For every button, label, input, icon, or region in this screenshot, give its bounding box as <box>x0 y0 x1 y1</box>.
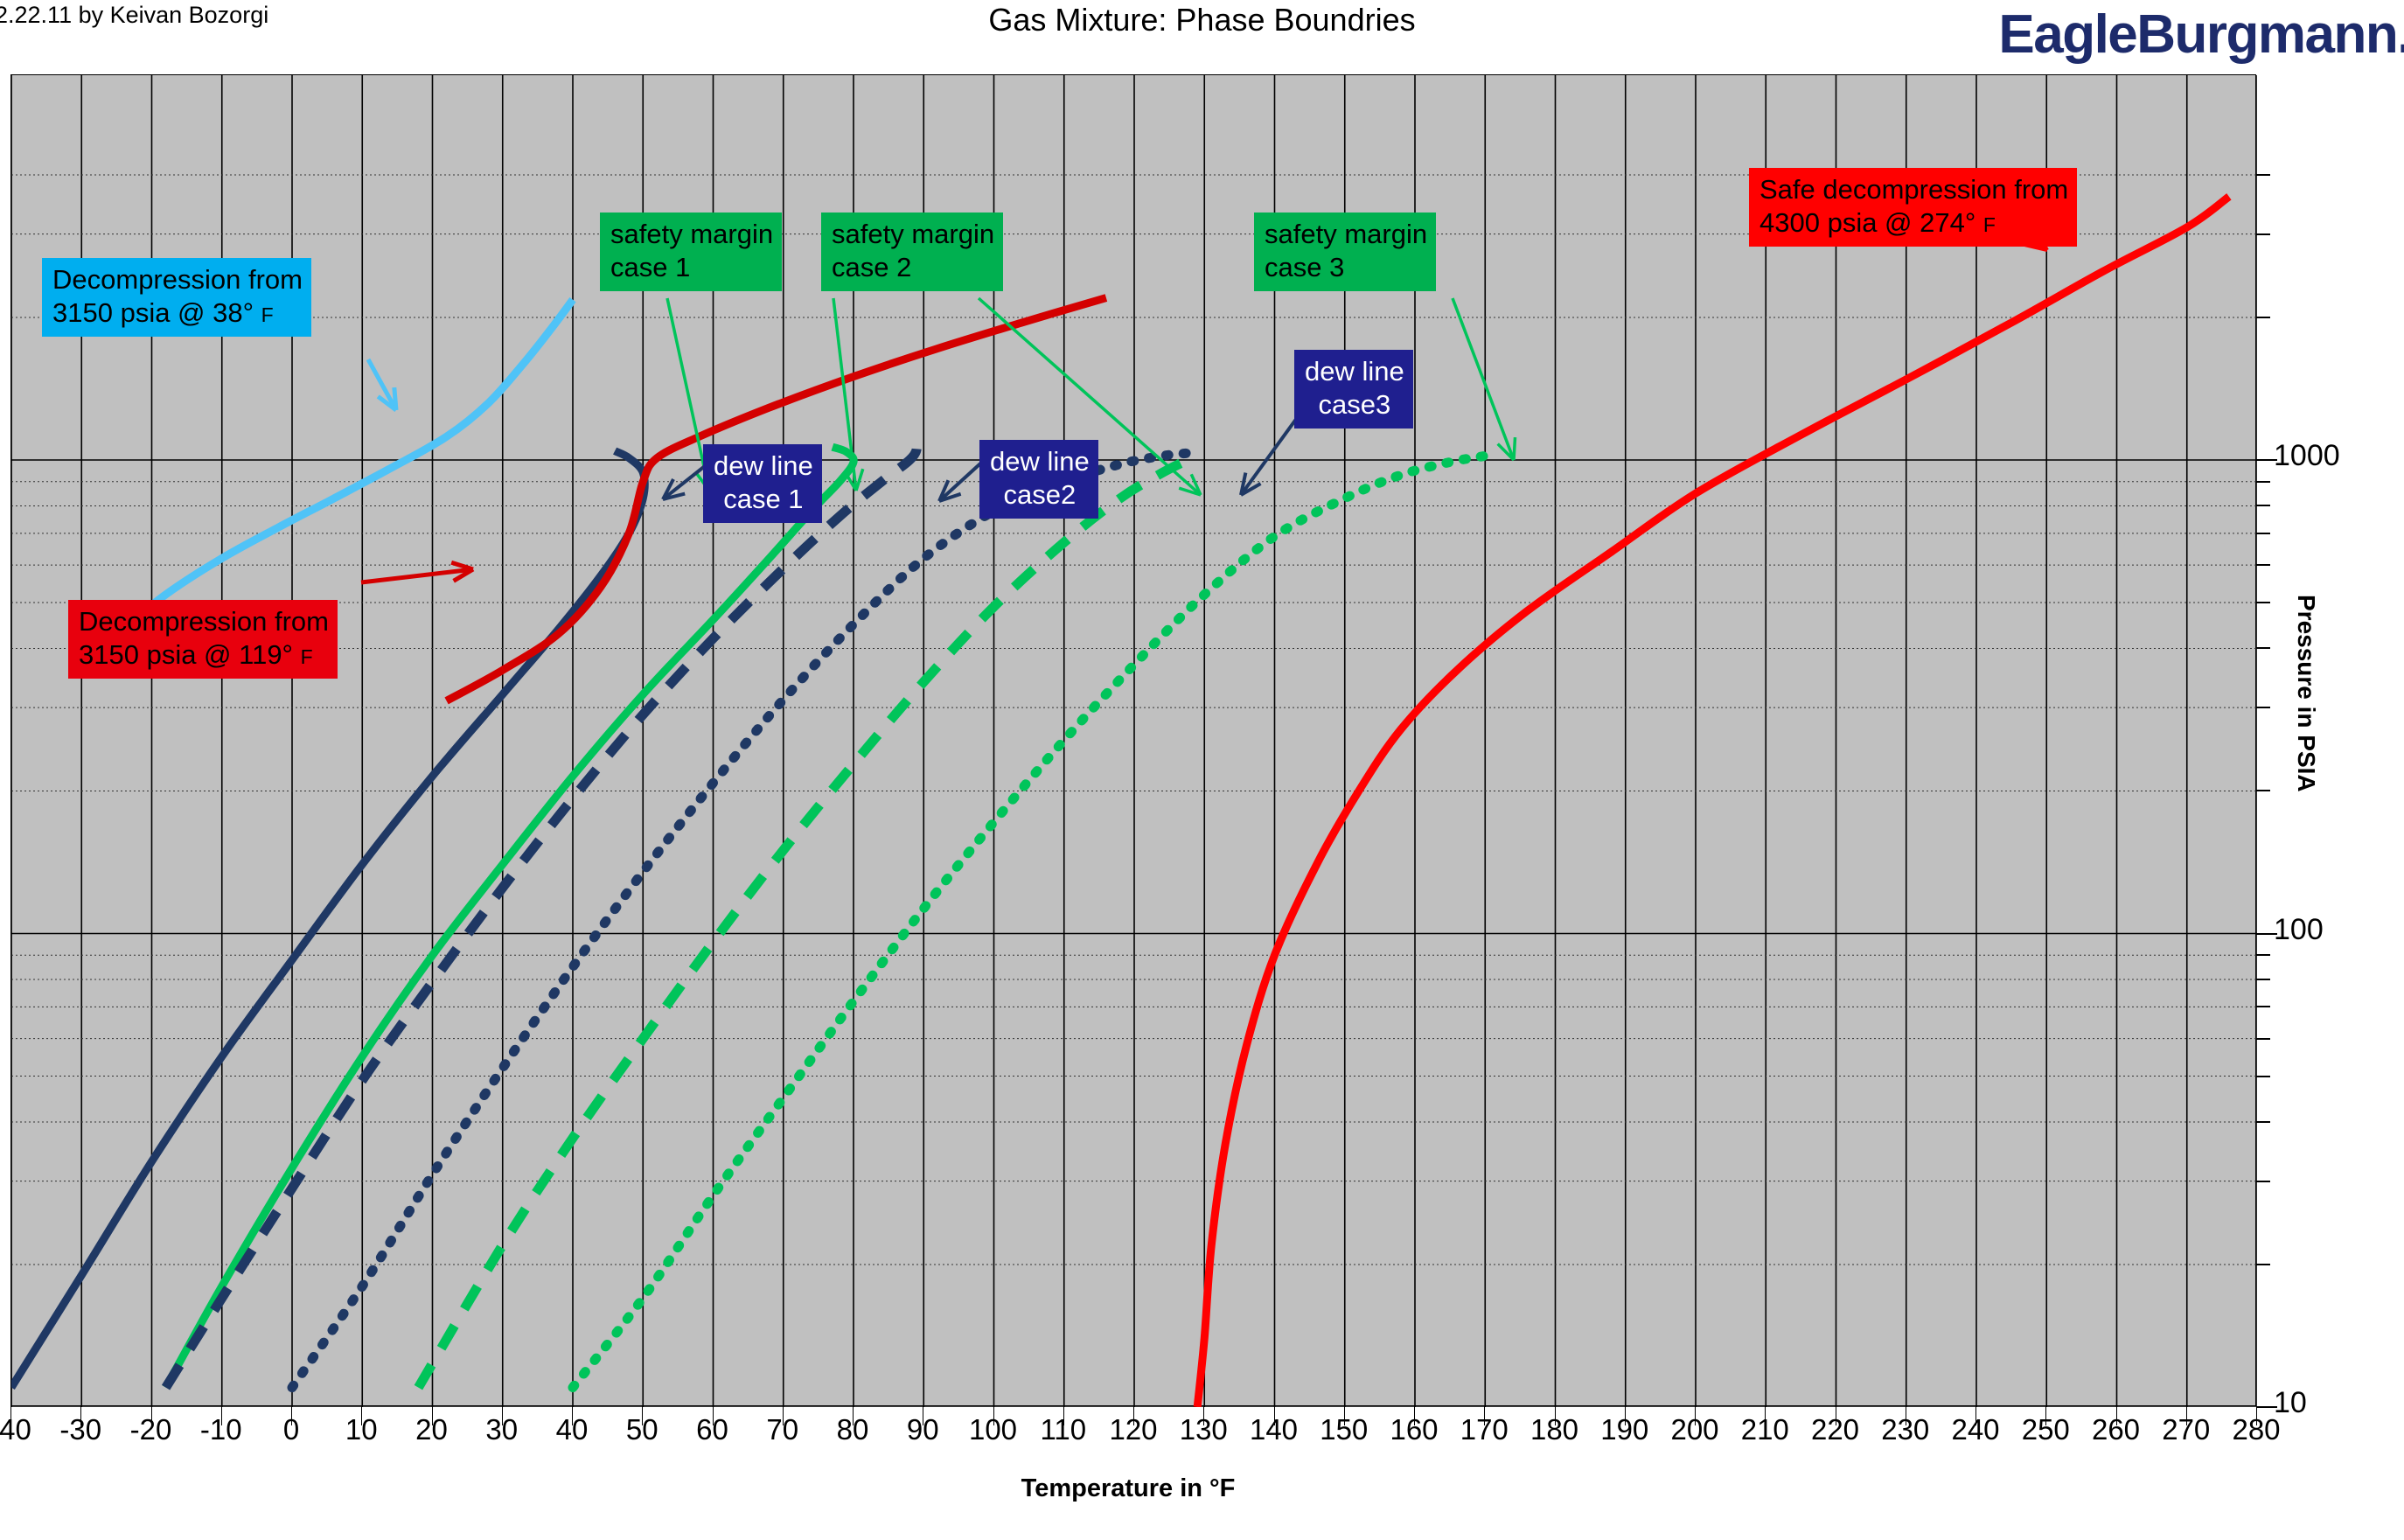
y-tick-mark <box>2256 1406 2277 1408</box>
callout-line-1: safety margin <box>610 218 773 251</box>
y-tick-mark <box>2256 602 2270 603</box>
curve-decompression-from-3150-psia-38-f <box>123 300 573 629</box>
x-tick-mark <box>1203 1406 1204 1425</box>
y-tick-mark <box>2256 1181 2270 1182</box>
x-tick-mark <box>1414 1406 1415 1425</box>
y-tick-mark <box>2256 481 2270 483</box>
x-tick-mark <box>923 1406 923 1425</box>
curve-dew-line-case-2 <box>166 442 917 1388</box>
x-tick-mark <box>2045 1406 2046 1425</box>
x-tick-mark <box>1555 1406 1556 1425</box>
x-tick-mark <box>1063 1406 1064 1425</box>
chart-plot-area <box>10 74 2256 1406</box>
callout-line-2: case 2 <box>832 251 994 284</box>
leader-margin-3 <box>1453 298 1514 460</box>
y-tick-mark <box>2256 790 2270 791</box>
y-tick-mark <box>2256 647 2270 649</box>
x-tick-mark <box>80 1406 81 1425</box>
callout-dew-line-2: dew line case2 <box>979 440 1098 519</box>
callout-line-1: Decompression from <box>52 263 303 296</box>
x-tick-mark <box>2256 1406 2257 1425</box>
x-tick-mark <box>642 1406 643 1425</box>
y-tick-mark <box>2256 505 2270 506</box>
leader-decomp-cold <box>368 359 396 410</box>
callout-line-2: 3150 psia @ 38° F <box>52 296 303 330</box>
y-tick-mark <box>2256 174 2270 176</box>
x-tick-mark <box>432 1406 433 1425</box>
x-tick-mark <box>1274 1406 1275 1425</box>
x-tick-mark <box>2186 1406 2187 1425</box>
x-tick-mark <box>151 1406 152 1425</box>
x-tick-mark <box>572 1406 573 1425</box>
callout-safety-margin-3: safety margin case 3 <box>1254 213 1436 291</box>
callout-line-1: Decompression from <box>79 605 329 638</box>
x-tick-mark <box>853 1406 854 1425</box>
callout-line-1: Safe decompression from <box>1759 173 2068 206</box>
callout-line-2: 3150 psia @ 119° F <box>79 638 329 672</box>
callout-line-2: case3 <box>1305 388 1404 422</box>
y-tick-mark <box>2256 707 2270 708</box>
y-tick-mark <box>2256 1006 2270 1007</box>
callout-line-2: case 1 <box>714 483 813 516</box>
callout-dew-line-1: dew line case 1 <box>703 444 822 523</box>
x-tick-label: -40 <box>0 1413 31 1446</box>
x-tick-mark <box>361 1406 362 1425</box>
x-axis-title: Temperature in °F <box>0 1474 2256 1503</box>
x-tick-mark <box>1484 1406 1485 1425</box>
callout-line-1: dew line <box>990 445 1090 478</box>
x-tick-mark <box>1344 1406 1345 1425</box>
x-tick-mark <box>1765 1406 1766 1425</box>
callout-line-1: dew line <box>1305 355 1404 388</box>
eagleburgmann-logo: EagleBurgmann. <box>1998 3 2404 66</box>
callout-line-2: case 3 <box>1265 251 1427 284</box>
x-tick-mark <box>1836 1406 1836 1425</box>
x-tick-mark <box>993 1406 994 1425</box>
x-tick-mark <box>10 1406 11 1425</box>
x-tick-mark <box>1906 1406 1906 1425</box>
leader-margin-2 <box>833 298 856 491</box>
callout-decompression-warm: Decompression from 3150 psia @ 119° F <box>68 600 338 679</box>
callout-line-2: 4300 psia @ 274° F <box>1759 206 2068 240</box>
callout-line-1: safety margin <box>1265 218 1427 251</box>
y-tick-mark <box>2256 933 2277 935</box>
curve-safety-margin-case-1 <box>166 447 854 1387</box>
y-tick-mark <box>2256 1076 2270 1077</box>
y-tick-mark <box>2256 979 2270 980</box>
y-tick-mark <box>2256 1038 2270 1040</box>
callout-line-1: dew line <box>714 449 813 483</box>
y-tick-mark <box>2256 317 2270 318</box>
x-tick-mark <box>291 1406 292 1425</box>
callout-dew-line-3: dew line case3 <box>1294 350 1413 429</box>
callout-decompression-cold: Decompression from 3150 psia @ 38° F <box>42 258 311 337</box>
y-tick-mark <box>2256 233 2270 235</box>
x-tick-mark <box>2116 1406 2117 1425</box>
y-tick-label: 100 <box>2274 913 2324 947</box>
callout-safe-decompression: Safe decompression from 4300 psia @ 274°… <box>1749 168 2077 247</box>
x-tick-mark <box>221 1406 222 1425</box>
y-tick-mark <box>2256 1121 2270 1123</box>
curve-dew-line-case-1 <box>11 451 645 1388</box>
x-tick-mark <box>1695 1406 1696 1425</box>
x-tick-mark <box>502 1406 503 1425</box>
y-tick-mark <box>2256 1264 2270 1265</box>
x-tick-mark <box>1625 1406 1626 1425</box>
curve-safety-margin-case-2 <box>418 452 1192 1388</box>
callout-safety-margin-2: safety margin case 2 <box>821 213 1003 291</box>
curve-safety-margin-case-3 <box>573 456 1485 1387</box>
callout-line-2: case 1 <box>610 251 773 284</box>
chart-curves <box>11 75 2257 1407</box>
y-tick-mark <box>2256 954 2270 956</box>
callout-line-1: safety margin <box>832 218 994 251</box>
y-tick-label: 10 <box>2274 1386 2307 1420</box>
x-tick-mark <box>783 1406 784 1425</box>
callout-safety-margin-1: safety margin case 1 <box>600 213 782 291</box>
y-tick-label: 1000 <box>2274 439 2340 473</box>
x-tick-mark <box>1975 1406 1976 1425</box>
y-tick-mark <box>2256 459 2277 461</box>
x-tick-mark <box>1133 1406 1134 1425</box>
y-tick-mark <box>2256 533 2270 534</box>
x-tick-mark <box>713 1406 714 1425</box>
y-tick-mark <box>2256 564 2270 566</box>
y-axis-title: Pressure in PSIA <box>2292 595 2320 792</box>
callout-line-2: case2 <box>990 478 1090 512</box>
